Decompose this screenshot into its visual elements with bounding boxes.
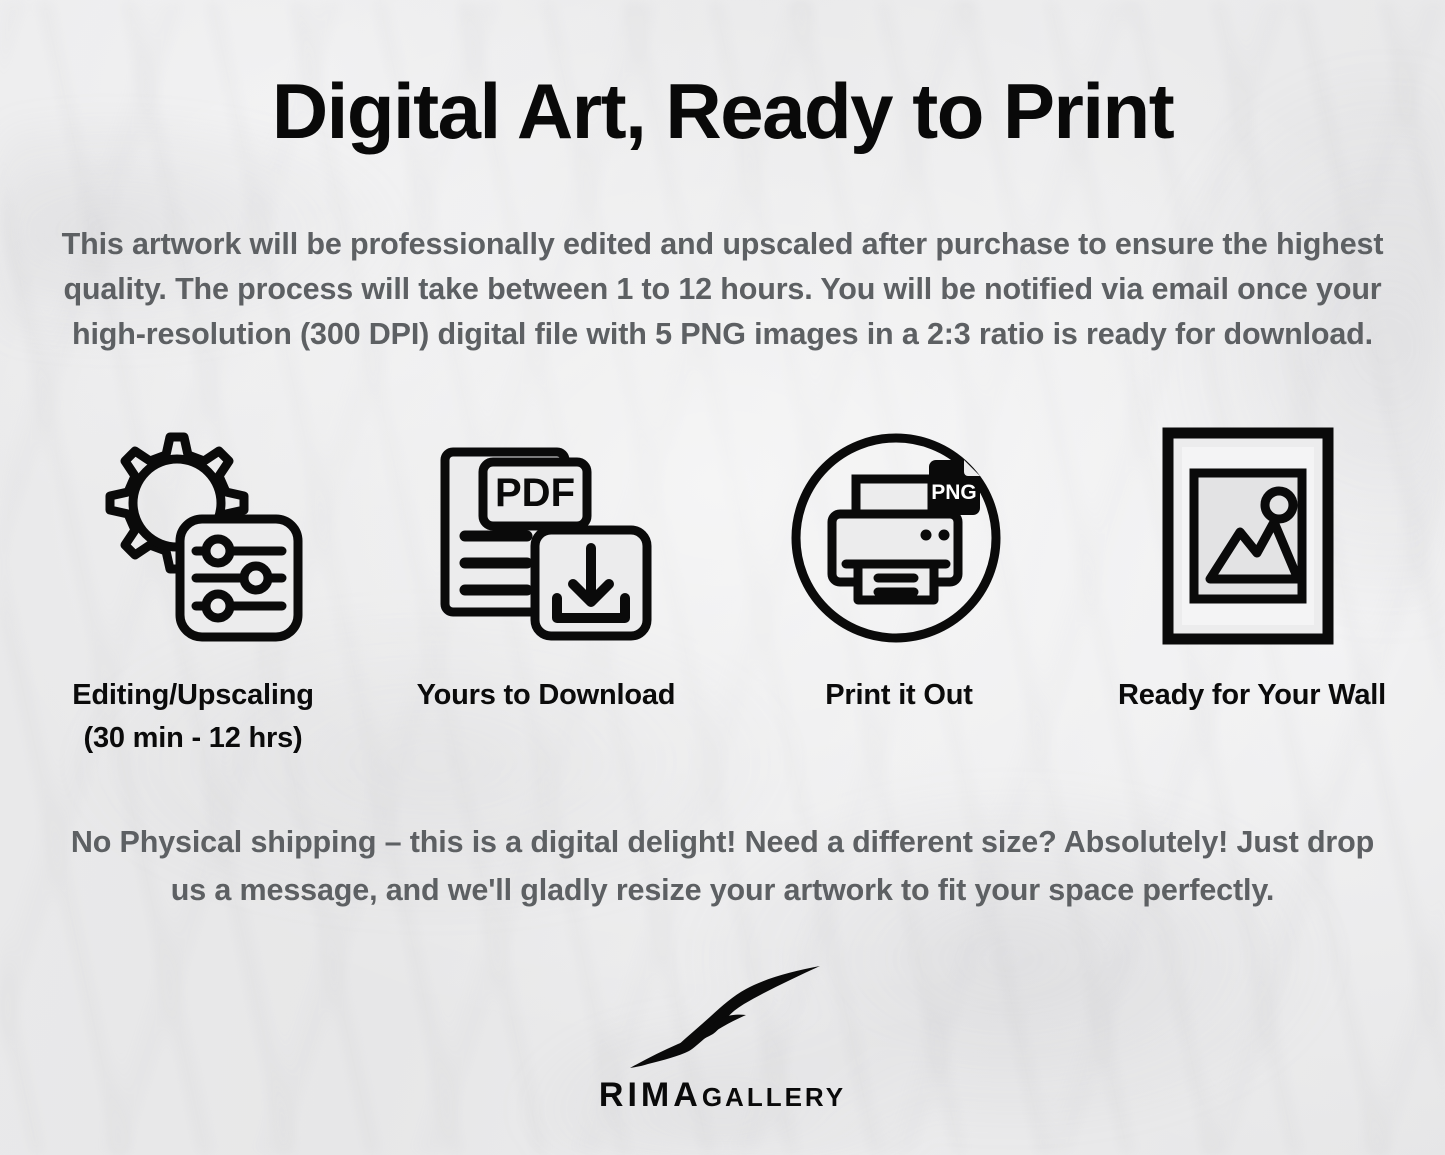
printer-circle-icon: PNG (784, 418, 1014, 658)
feature-editing-upscaling: Editing/Upscaling (30 min - 12 hrs) (18, 418, 368, 760)
outro-paragraph: No Physical shipping – this is a digital… (50, 818, 1395, 914)
feature-print-it-out: PNG Print it Out (724, 418, 1074, 717)
brand-wordmark: RIMAGALLERY (599, 1076, 846, 1115)
feature-caption: Editing/Upscaling (30 min - 12 hrs) (72, 674, 314, 760)
feature-yours-to-download: PDF Yours to Download (371, 418, 721, 717)
feature-caption-line1: Editing/Upscaling (72, 674, 314, 717)
brand-logo: RIMAGALLERY (573, 960, 873, 1115)
feature-caption: Print it Out (825, 674, 972, 717)
feature-caption-line1: Ready for Your Wall (1118, 674, 1386, 717)
feature-ready-for-your-wall: Ready for Your Wall (1077, 418, 1427, 717)
poster-content: Digital Art, Ready to Print This artwork… (0, 0, 1445, 1155)
intro-paragraph: This artwork will be professionally edit… (50, 222, 1395, 357)
gear-sliders-icon (78, 418, 308, 658)
feature-caption-line2: (30 min - 12 hrs) (72, 717, 314, 760)
brand-name-secondary: GALLERY (702, 1082, 846, 1113)
framed-picture-icon (1162, 418, 1342, 658)
double-swoosh-icon (618, 960, 828, 1070)
feature-caption-line1: Yours to Download (417, 674, 676, 717)
pdf-download-icon: PDF (439, 418, 654, 658)
poster-canvas: Digital Art, Ready to Print This artwork… (0, 0, 1445, 1155)
page-title: Digital Art, Ready to Print (0, 72, 1445, 150)
feature-caption-line1: Print it Out (825, 674, 972, 717)
feature-caption: Ready for Your Wall (1118, 674, 1386, 717)
pdf-badge-text: PDF (495, 471, 575, 515)
png-badge-text: PNG (931, 481, 977, 504)
feature-caption: Yours to Download (417, 674, 676, 717)
feature-row: Editing/Upscaling (30 min - 12 hrs) (0, 418, 1445, 760)
brand-name-primary: RIMA (599, 1076, 702, 1115)
